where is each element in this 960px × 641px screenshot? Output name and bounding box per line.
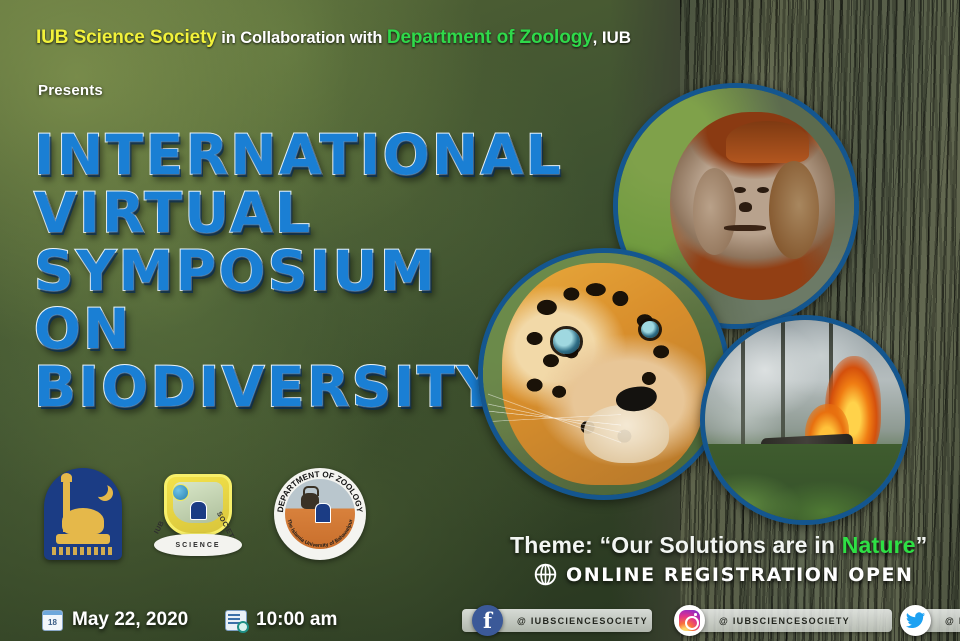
leopard-photo [478,248,730,500]
page-title: INTERNATIONAL VIRTUAL SYMPOSIUM ON BIODI… [34,126,504,416]
orangutan-cheek-left [693,168,736,255]
crest-icon [190,501,207,520]
globe-icon [172,484,189,501]
title-line-4: ON [34,300,504,358]
theme-line: Theme: “Our Solutions are in Nature” [510,532,927,559]
ribbon-banner: SCIENCE [154,534,242,556]
orangutan-crest [726,121,809,163]
facebook-icon[interactable]: f [472,605,503,636]
globe-icon [534,563,557,586]
organizer-name: IUB Science Society [36,27,217,48]
partner-name: Department of Zoology [387,27,593,48]
orangutan-eye-left [734,187,746,193]
zoology-bottom-arc: The Islamia University of Bahawalpur [285,519,354,549]
urdu-script [52,547,114,555]
iub-university-logo [44,468,122,560]
theme-prefix: Theme: “Our Solutions are in [510,532,842,558]
crescent-moon-icon [92,481,108,497]
poster-canvas: IUB Science Society in Collaboration wit… [0,0,960,641]
leopard-whiskers [488,369,621,466]
logo-row: IUB SOCIETY SCIENCE DEPARTMENT OF ZOOLOG… [44,468,366,560]
partner-suffix: , IUB [593,28,631,47]
event-time: 10:00 am [225,609,337,631]
event-date: 18 May 22, 2020 [42,609,188,631]
fire-ground-vegetation [705,444,905,520]
book-icon [56,534,110,544]
social-links: @ IUBSCIENCESOCIETY f @ IUBSCIENCESOCIET… [452,605,950,636]
twitter-handle: @ IUBSS [945,616,960,626]
facebook-handle: @ IUBSCIENCESOCIETY [517,616,648,626]
twitter-icon[interactable] [900,605,931,636]
forest-fire-photo [700,315,910,525]
dome-icon [62,508,104,534]
leopard-eye-right [641,321,659,339]
registration-label: ONLINE REGISTRATION OPEN [566,564,914,586]
instagram-handle-pill[interactable]: @ IUBSCIENCESOCIETY [677,609,892,632]
calendar-icon: 18 [42,610,63,631]
zoology-logo-arc-text: DEPARTMENT OF ZOOLOGY The Islamia Univer… [274,468,366,560]
svg-text:The Islamia University of Baha: The Islamia University of Bahawalpur [285,519,354,549]
orangutan-mouth [724,225,765,231]
theme-suffix: ” [916,532,928,558]
presents-label: Presents [38,82,103,99]
svg-text:DEPARTMENT OF ZOOLOGY: DEPARTMENT OF ZOOLOGY [276,470,364,513]
orangutan-nose [739,202,752,211]
event-time-label: 10:00 am [256,609,337,631]
title-line-2: VIRTUAL [34,184,504,242]
iub-science-society-logo: IUB SOCIETY SCIENCE [152,468,244,560]
header-line: IUB Science Society in Collaboration wit… [36,27,631,49]
title-line-3: SYMPOSIUM [34,242,504,300]
zoology-top-arc: DEPARTMENT OF ZOOLOGY [276,470,364,513]
header-connector: in Collaboration with [217,29,387,47]
fire-tree-trunk-1 [741,320,745,460]
footer-bar: 18 May 22, 2020 10:00 am @ IUBSCIENCESOC… [0,600,960,641]
ribbon-text: SCIENCE [154,534,242,556]
calendar-icon-day: 18 [43,615,62,630]
instagram-icon[interactable] [674,605,705,636]
theme-highlight: Nature [842,532,916,558]
title-line-1: INTERNATIONAL [34,126,504,184]
orangutan-eye-right [757,187,769,193]
department-of-zoology-logo: DEPARTMENT OF ZOOLOGY The Islamia Univer… [274,468,366,560]
event-date-label: May 22, 2020 [72,609,188,631]
leopard-eye-left [553,329,579,353]
science-society-arc-left: IUB [154,520,167,535]
instagram-handle: @ IUBSCIENCESOCIETY [719,616,850,626]
orangutan-cheek-right [769,161,819,259]
online-registration-banner[interactable]: ONLINE REGISTRATION OPEN [534,563,914,586]
title-line-5: BIODIVERSITY [34,358,504,416]
schedule-clock-icon [225,610,247,631]
